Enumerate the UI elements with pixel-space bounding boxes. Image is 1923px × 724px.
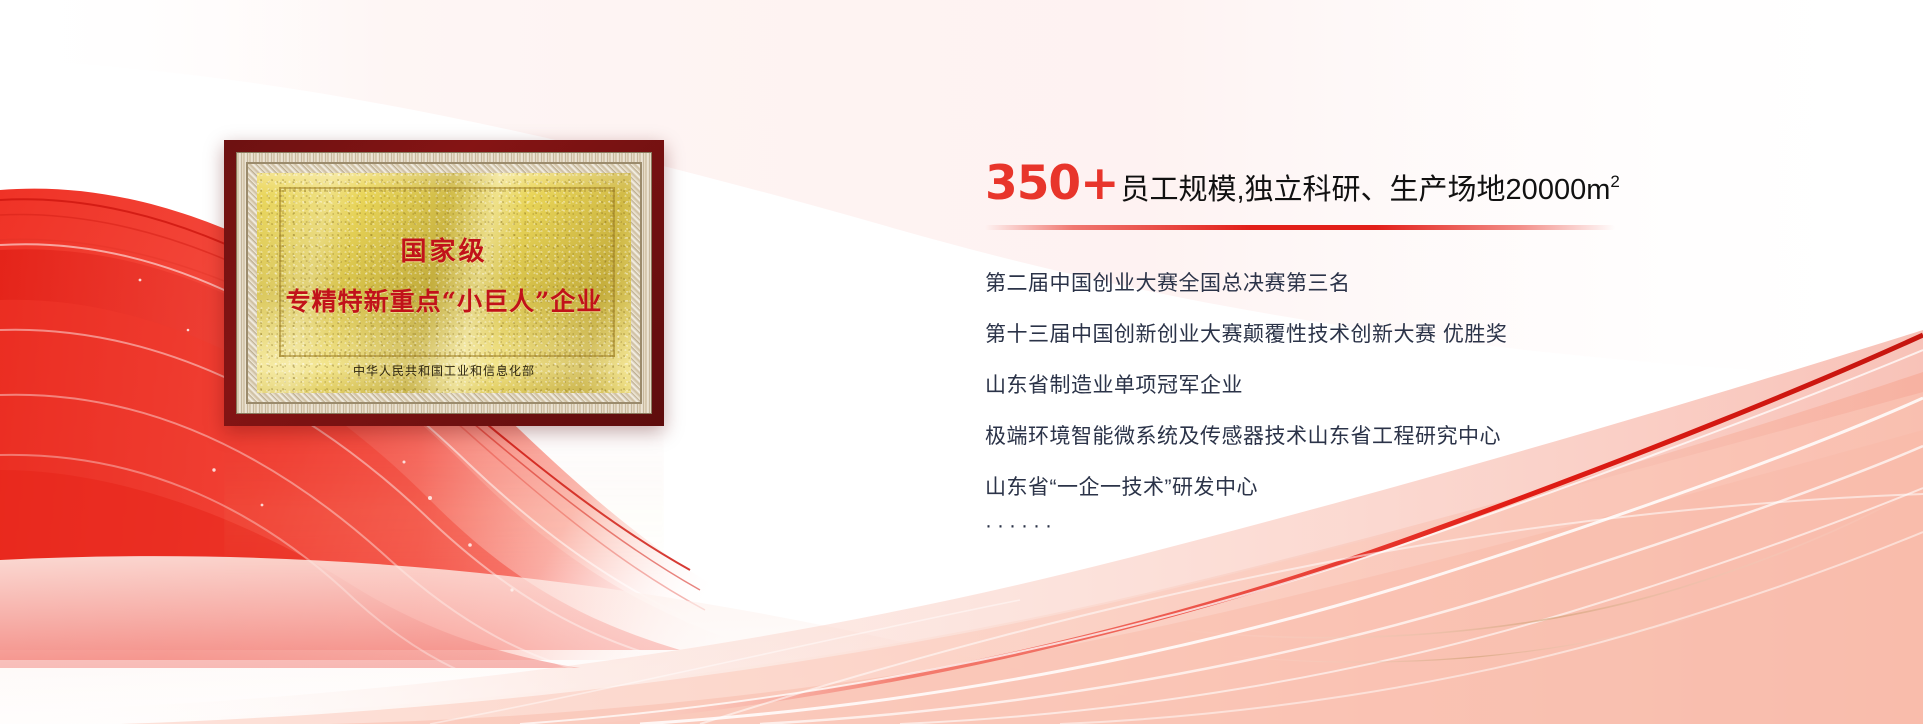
achievement-item: 山东省制造业单项冠军企业 bbox=[985, 375, 1865, 396]
achievement-item: 极端环境智能微系统及传感器技术山东省工程研究中心 bbox=[985, 426, 1865, 447]
headline-text: 员工规模,独立科研、生产场地20000m bbox=[1121, 176, 1611, 205]
award-plaque: 国家级 专精特新重点“小巨人”企业 中华人民共和国工业和信息化部 2024年12… bbox=[224, 140, 664, 426]
plaque-title-line1: 国家级 bbox=[400, 231, 487, 268]
achievement-item: 第二届中国创业大赛全国总决赛第三名 bbox=[985, 273, 1865, 294]
content-column: 350+ 员工规模,独立科研、生产场地20000m 2 第二届中国创业大赛全国总… bbox=[985, 160, 1865, 538]
plaque-reflection bbox=[224, 427, 664, 577]
headline-number: 350+ bbox=[985, 160, 1119, 207]
achievement-list: 第二届中国创业大赛全国总决赛第三名 第十三届中国创新创业大赛颠覆性技术创新大赛 … bbox=[985, 273, 1865, 538]
achievement-item: 山东省“一企一技术”研发中心 bbox=[985, 477, 1865, 498]
plaque-body: 国家级 专精特新重点“小巨人”企业 中华人民共和国工业和信息化部 2024年12… bbox=[224, 140, 664, 426]
achievement-item: 第十三届中国创新创业大赛颠覆性技术创新大赛 优胜奖 bbox=[985, 324, 1865, 345]
award-banner: 国家级 专精特新重点“小巨人”企业 中华人民共和国工业和信息化部 2024年12… bbox=[0, 0, 1923, 724]
plaque-frame-inner: 国家级 专精特新重点“小巨人”企业 中华人民共和国工业和信息化部 2024年12… bbox=[247, 163, 641, 403]
headline: 350+ 员工规模,独立科研、生产场地20000m 2 bbox=[985, 160, 1865, 207]
plaque-frame-outer: 国家级 专精特新重点“小巨人”企业 中华人民共和国工业和信息化部 2024年12… bbox=[236, 152, 652, 414]
plaque-issuer: 中华人民共和国工业和信息化部 bbox=[353, 362, 535, 379]
plaque-gold-plate: 国家级 专精特新重点“小巨人”企业 中华人民共和国工业和信息化部 2024年12… bbox=[257, 173, 631, 393]
plaque-title-line2: 专精特新重点“小巨人”企业 bbox=[286, 282, 603, 318]
plaque-date: 2024年12月 bbox=[410, 390, 478, 393]
achievement-ellipsis: ······ bbox=[985, 514, 1865, 538]
headline-superscript: 2 bbox=[1610, 172, 1619, 192]
headline-divider bbox=[985, 225, 1615, 230]
plaque-text-block: 国家级 专精特新重点“小巨人”企业 中华人民共和国工业和信息化部 2024年12… bbox=[257, 173, 631, 393]
